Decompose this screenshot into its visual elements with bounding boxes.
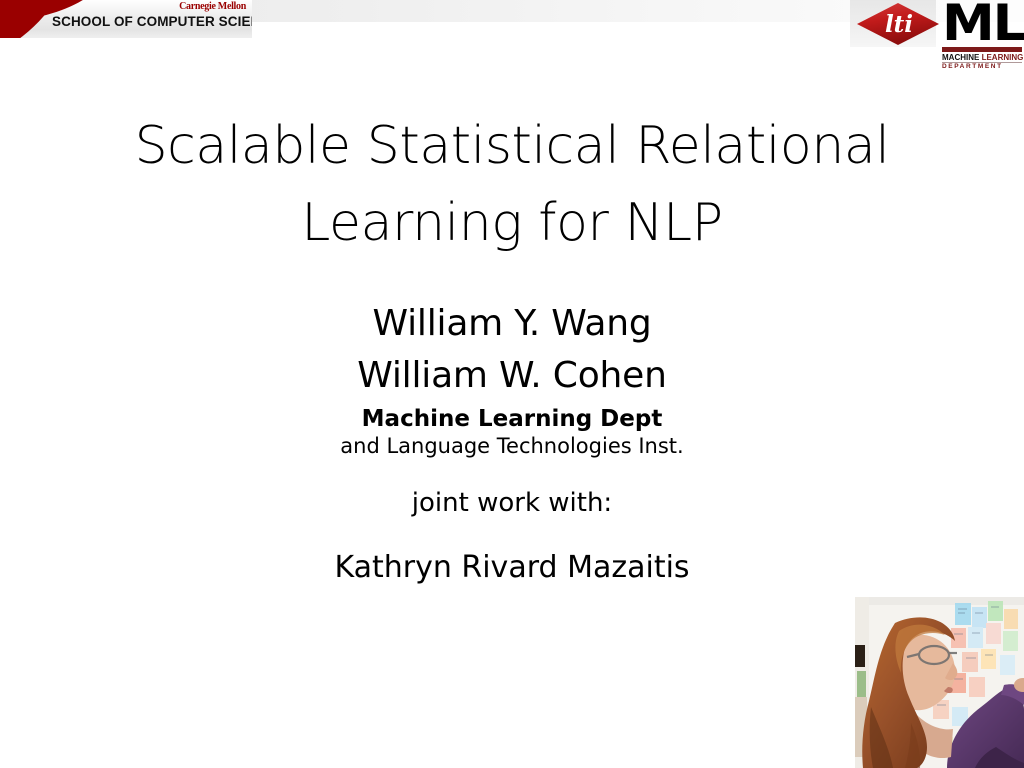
ml-logo-letters: ML <box>942 0 1024 48</box>
slide-title: Scalable Statistical Relational Learning… <box>62 108 962 262</box>
cmu-wordmark-text: Carnegie Mellon <box>179 1 246 12</box>
slide-body: William Y. Wang William W. Cohen Machine… <box>62 298 962 586</box>
author-name-primary: William Y. Wang <box>62 298 962 350</box>
author-name-secondary: William W. Cohen <box>62 350 962 402</box>
slide-title-line-2: Learning for NLP <box>62 185 962 262</box>
ml-logo-accent-bar <box>942 47 1022 52</box>
cmu-school-text: SCHOOL OF COMPUTER SCIENCE <box>52 14 252 29</box>
collaborator-photo-image <box>855 597 1024 768</box>
cmu-scs-banner: Carnegie Mellon SCHOOL OF COMPUTER SCIEN… <box>0 0 252 38</box>
ml-logo-department-text: DEPARTMENT <box>942 63 1024 71</box>
lti-logo: lti <box>856 2 940 46</box>
joint-work-label: joint work with: <box>62 487 962 519</box>
lti-logo-text: lti <box>856 2 940 46</box>
collaborator-name: Kathryn Rivard Mazaitis <box>62 550 962 586</box>
affiliation-primary: Machine Learning Dept <box>62 405 962 433</box>
affiliation-secondary: and Language Technologies Inst. <box>62 433 962 459</box>
ml-logo-subtitle-machine: MACHINE <box>942 53 979 62</box>
ml-department-logo: ML MACHINE LEARNING DEPARTMENT <box>941 3 1023 69</box>
slide-title-line-1: Scalable Statistical Relational <box>62 108 962 185</box>
collaborator-photo <box>855 597 1024 768</box>
ml-logo-subtitle: MACHINE LEARNING <box>942 53 1024 62</box>
ml-logo-subtitle-learning: LEARNING <box>982 53 1024 62</box>
